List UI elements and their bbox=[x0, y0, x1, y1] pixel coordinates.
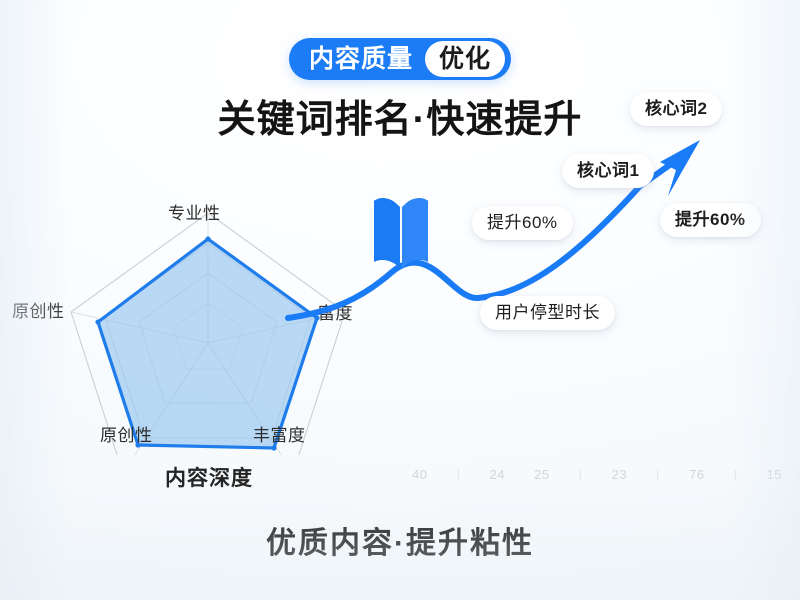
pill-uplift-left[interactable]: 提升60% bbox=[472, 206, 573, 240]
radar-data-series bbox=[95, 236, 319, 450]
pill-core-keyword-1[interactable]: 核心词1 bbox=[562, 154, 654, 188]
axis-tick-0: 40 bbox=[412, 467, 427, 482]
radar-label-professionalism: 专业性 bbox=[168, 199, 221, 224]
mini-axis: 40 | 24 25 | 23 | 76 | 15 bbox=[412, 463, 782, 485]
badge-tag-label: 优化 bbox=[425, 41, 505, 77]
content-quality-badge[interactable]: 内容质量 优化 bbox=[289, 38, 511, 80]
radar-label-originality-left: 原创性 bbox=[12, 297, 65, 322]
axis-tick-8: | bbox=[734, 467, 738, 481]
axis-tick-1: | bbox=[457, 467, 461, 481]
pill-user-dwell-time[interactable]: 用户停型时长 bbox=[480, 296, 615, 330]
axis-tick-7: 76 bbox=[689, 467, 704, 482]
axis-tick-4: | bbox=[579, 467, 583, 481]
content-depth-label: 内容深度 bbox=[165, 462, 253, 492]
axis-tick-9: 15 bbox=[767, 467, 782, 482]
pill-core-keyword-2[interactable]: 核心词2 bbox=[630, 92, 722, 126]
infographic-canvas: 内容质量 优化 关键词排名·快速提升 bbox=[0, 0, 800, 600]
axis-tick-6: | bbox=[656, 467, 660, 481]
open-book-icon bbox=[372, 186, 430, 272]
radar-label-abundance: 丰富度 bbox=[253, 421, 306, 446]
axis-tick-3: 25 bbox=[534, 467, 549, 482]
axis-tick-2: 24 bbox=[489, 467, 504, 482]
pill-uplift-right[interactable]: 提升60% bbox=[660, 203, 761, 237]
arrow-head-icon bbox=[660, 140, 700, 196]
radar-chart: 专业性 富度 丰富度 原创性 原创性 bbox=[40, 195, 360, 455]
bottom-caption: 优质内容·提升粘性 bbox=[0, 518, 800, 562]
badge-main-label: 内容质量 bbox=[289, 38, 425, 80]
axis-tick-5: 23 bbox=[612, 467, 627, 482]
radar-label-richness: 富度 bbox=[318, 299, 353, 324]
radar-label-originality-bottom: 原创性 bbox=[100, 421, 153, 446]
radar-svg bbox=[40, 195, 360, 455]
